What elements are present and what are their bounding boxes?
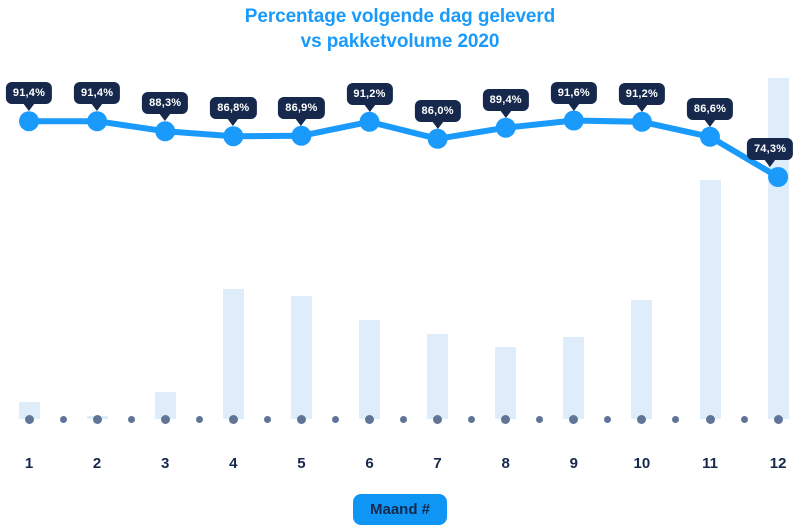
plot-area: 91,4%91,4%88,3%86,8%86,9%91,2%86,0%89,4%… (0, 0, 800, 440)
chart-container: Percentage volgende dag geleverd vs pakk… (0, 0, 800, 532)
data-point-marker[interactable] (564, 111, 584, 131)
data-point-marker[interactable] (19, 111, 39, 131)
value-badge: 88,3% (142, 92, 188, 114)
line-path (29, 121, 778, 178)
data-point-marker[interactable] (291, 126, 311, 146)
value-badge: 91,6% (551, 82, 597, 104)
x-axis-tick: 9 (570, 455, 578, 472)
value-badge: 86,0% (414, 100, 460, 122)
data-point-marker[interactable] (496, 118, 516, 138)
x-axis-tick: 5 (297, 455, 305, 472)
x-axis-tick: 3 (161, 455, 169, 472)
value-badge: 89,4% (483, 89, 529, 111)
value-badge: 74,3% (747, 138, 793, 160)
value-badge: 91,4% (6, 82, 52, 104)
value-badge: 91,2% (619, 83, 665, 105)
x-axis-tick: 1 (25, 455, 33, 472)
data-point-marker[interactable] (768, 167, 788, 187)
x-axis-tick: 12 (770, 455, 787, 472)
x-axis-tick: 4 (229, 455, 237, 472)
data-point-marker[interactable] (700, 127, 720, 147)
data-point-marker[interactable] (87, 111, 107, 131)
value-badge: 86,9% (278, 97, 324, 119)
x-axis-tick: 6 (365, 455, 373, 472)
data-point-marker[interactable] (632, 112, 652, 132)
value-badge: 86,6% (687, 98, 733, 120)
data-point-marker[interactable] (428, 129, 448, 149)
data-point-marker[interactable] (155, 121, 175, 141)
x-axis-title-badge: Maand # (353, 494, 447, 525)
x-axis-tick: 7 (433, 455, 441, 472)
value-badge: 91,2% (346, 83, 392, 105)
data-point-marker[interactable] (223, 126, 243, 146)
x-axis-tick: 2 (93, 455, 101, 472)
line-markers (19, 111, 788, 188)
x-axis-tick: 11 (702, 455, 718, 472)
value-badge: 86,8% (210, 97, 256, 119)
data-point-marker[interactable] (360, 112, 380, 132)
x-axis-tick: 10 (634, 455, 651, 472)
line-series-percentage (0, 0, 800, 440)
value-badge: 91,4% (74, 82, 120, 104)
x-axis-tick: 8 (502, 455, 510, 472)
